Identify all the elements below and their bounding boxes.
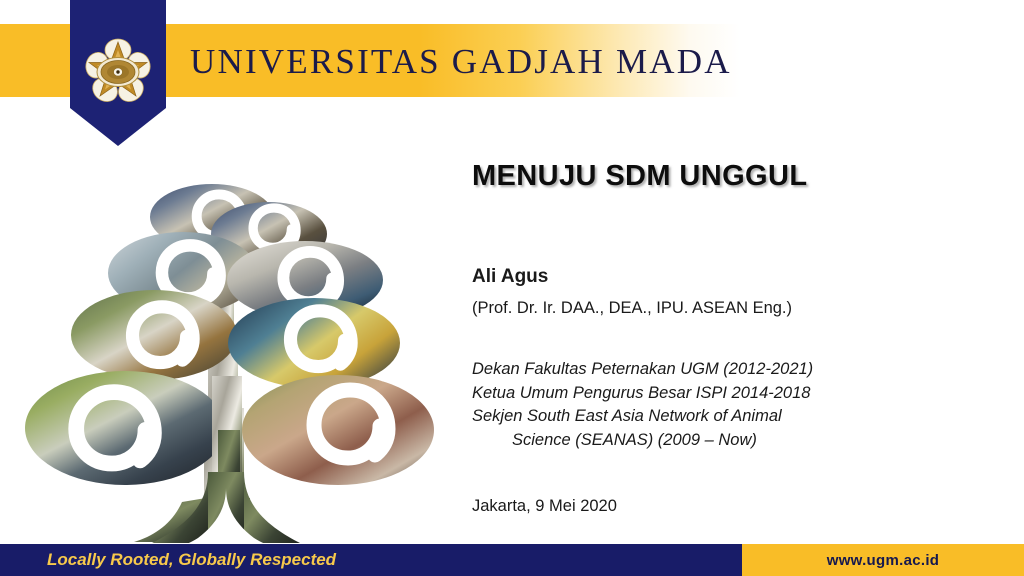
role-line-3: Sekjen South East Asia Network of Animal xyxy=(472,405,813,429)
speaker-name: Ali Agus xyxy=(472,266,548,288)
role-line-1: Dekan Fakultas Peternakan UGM (2012-2021… xyxy=(472,358,813,382)
university-name-heading: UNIVERSITAS GADJAH MADA xyxy=(190,34,732,90)
speaker-credentials: (Prof. Dr. Ir. DAA., DEA., IPU. ASEAN En… xyxy=(472,299,792,318)
ugm-pennant-star-icon xyxy=(70,0,166,146)
event-date-place: Jakarta, 9 Mei 2020 xyxy=(472,497,617,516)
speaker-roles-list: Dekan Fakultas Peternakan UGM (2012-2021… xyxy=(472,358,813,452)
photo-collage-tree xyxy=(22,180,442,548)
presentation-slide: UNIVERSITAS GADJAH MADA xyxy=(0,0,1024,576)
footer-website-url[interactable]: www.ugm.ac.id xyxy=(742,544,1024,576)
page-title: MENUJU SDM UNGGUL xyxy=(472,160,807,193)
footer-tagline: Locally Rooted, Globally Respected xyxy=(47,544,336,576)
role-line-4: Science (SEANAS) (2009 – Now) xyxy=(472,429,813,453)
role-line-2: Ketua Umum Pengurus Besar ISPI 2014-2018 xyxy=(472,382,813,406)
